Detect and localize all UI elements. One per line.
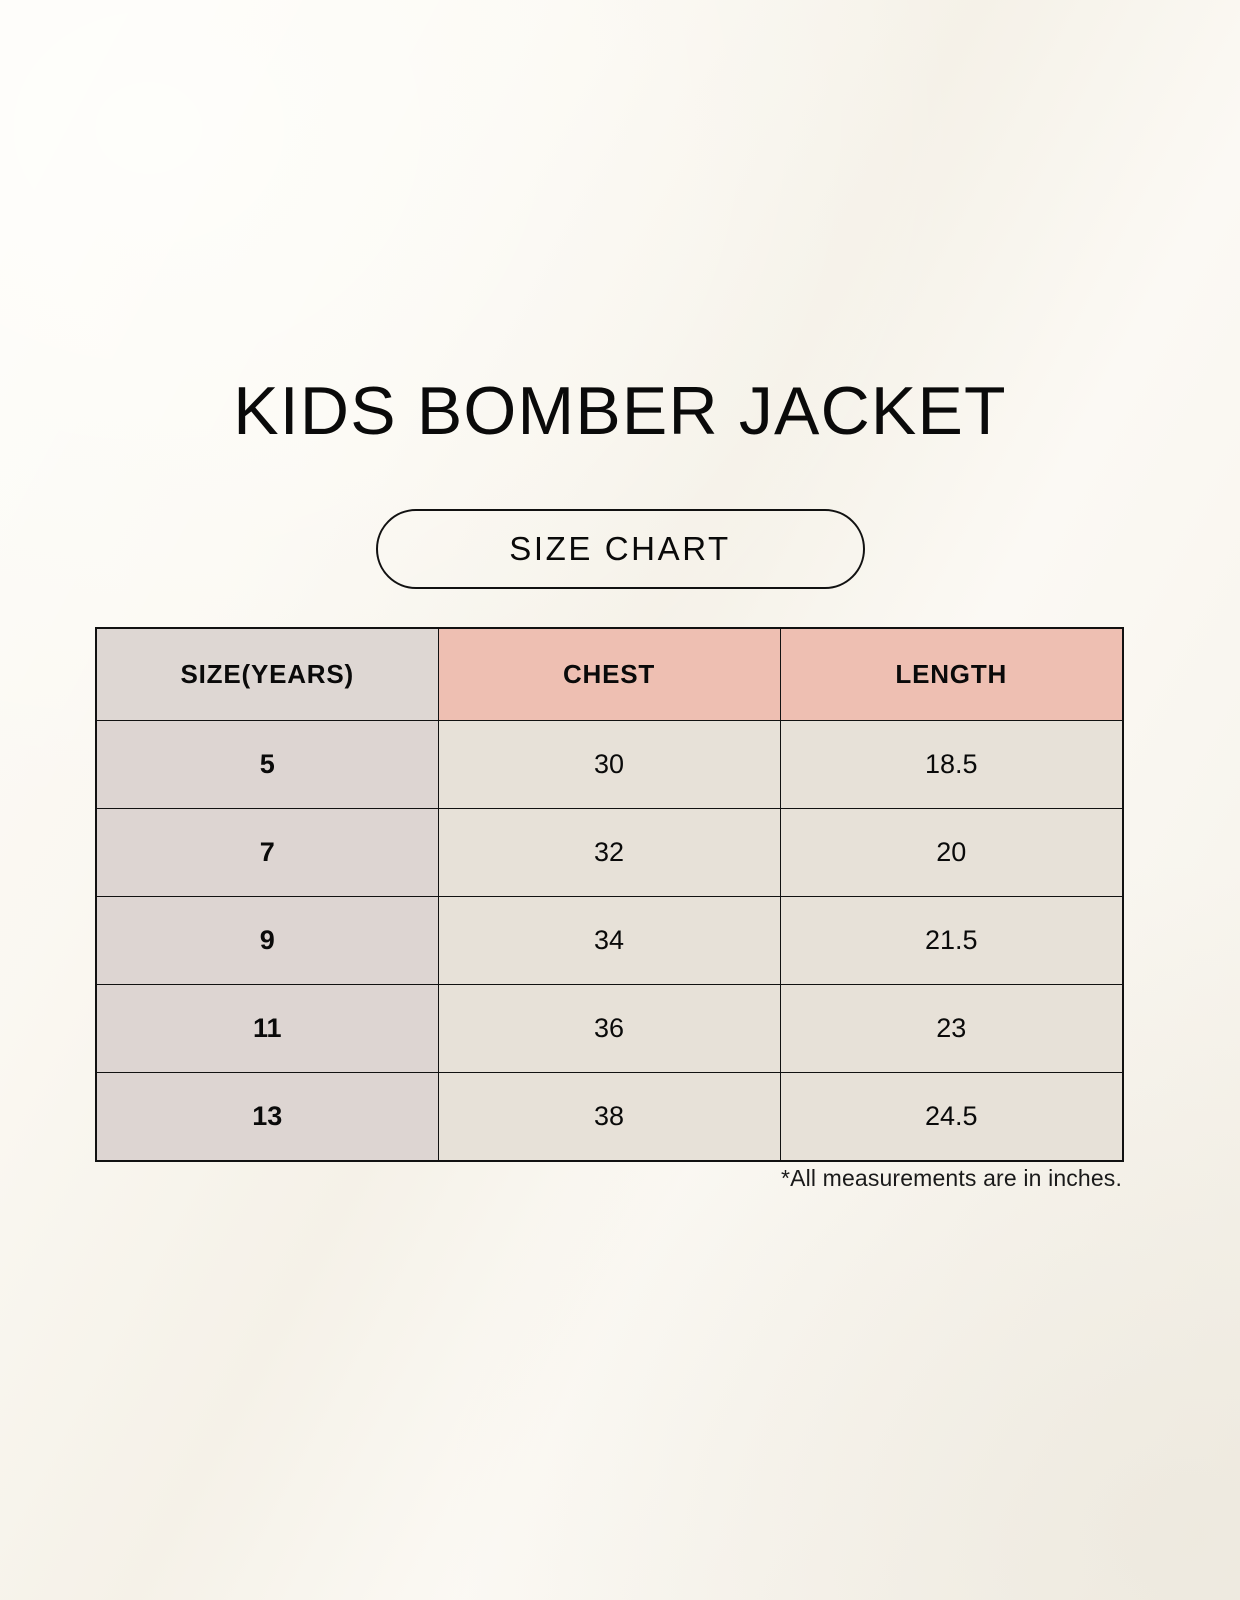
cell-chest: 38: [438, 1073, 780, 1161]
cell-chest: 34: [438, 897, 780, 985]
size-chart-page: KIDS BOMBER JACKET SIZE CHART SIZE(YEARS…: [0, 0, 1240, 1600]
cell-size: 5: [96, 721, 438, 809]
table-header: SIZE(YEARS) CHEST LENGTH: [96, 628, 1123, 721]
cell-chest: 32: [438, 809, 780, 897]
cell-length: 20: [780, 809, 1123, 897]
cell-length: 24.5: [780, 1073, 1123, 1161]
cell-length: 23: [780, 985, 1123, 1073]
cell-chest: 30: [438, 721, 780, 809]
size-chart-table: SIZE(YEARS) CHEST LENGTH 5 30 18.5 7 32 …: [95, 627, 1124, 1162]
table-row: 5 30 18.5: [96, 721, 1123, 809]
size-chart-badge-wrapper: SIZE CHART: [0, 509, 1240, 589]
cell-size: 7: [96, 809, 438, 897]
column-header-chest: CHEST: [438, 628, 780, 721]
table-header-row: SIZE(YEARS) CHEST LENGTH: [96, 628, 1123, 721]
page-title: KIDS BOMBER JACKET: [0, 374, 1240, 448]
cell-chest: 36: [438, 985, 780, 1073]
cell-size: 11: [96, 985, 438, 1073]
table-row: 13 38 24.5: [96, 1073, 1123, 1161]
table-row: 9 34 21.5: [96, 897, 1123, 985]
cell-length: 21.5: [780, 897, 1123, 985]
cell-size: 13: [96, 1073, 438, 1161]
cell-size: 9: [96, 897, 438, 985]
column-header-size: SIZE(YEARS): [96, 628, 438, 721]
cell-length: 18.5: [780, 721, 1123, 809]
measurements-footnote: *All measurements are in inches.: [95, 1163, 1122, 1193]
column-header-length: LENGTH: [780, 628, 1123, 721]
table-row: 11 36 23: [96, 985, 1123, 1073]
size-chart-badge: SIZE CHART: [376, 509, 865, 589]
table-body: 5 30 18.5 7 32 20 9 34 21.5 11 36 23 13: [96, 721, 1123, 1161]
table-row: 7 32 20: [96, 809, 1123, 897]
